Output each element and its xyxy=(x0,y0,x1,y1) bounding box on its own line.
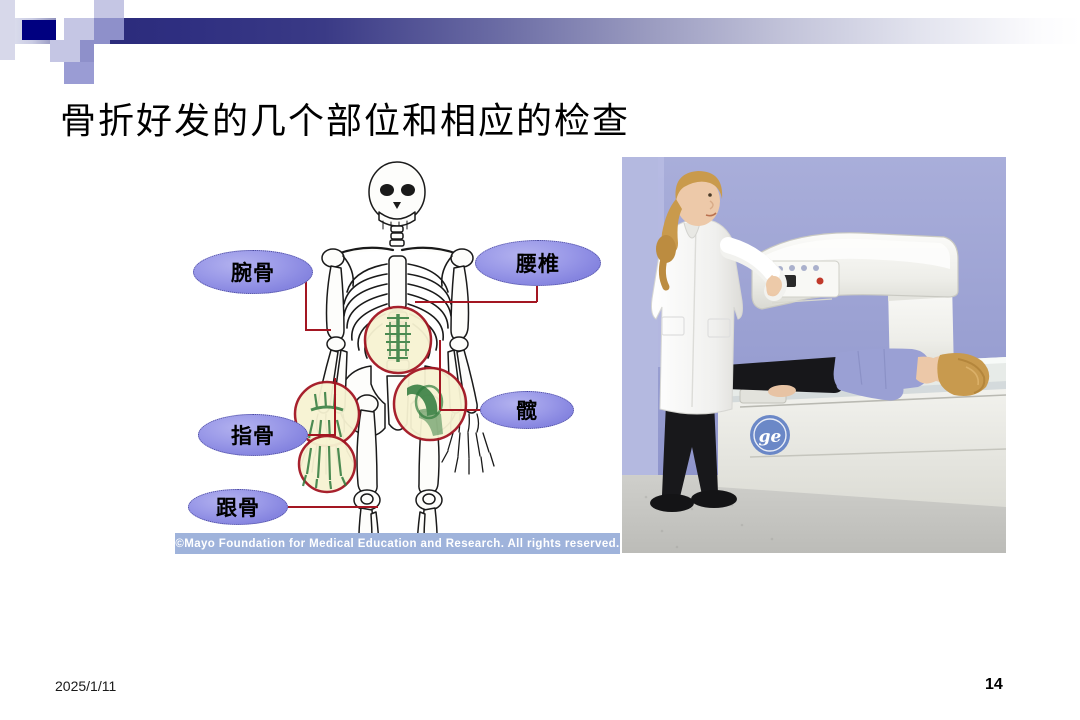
leader-line-phalanx-v xyxy=(334,378,336,435)
header-gradient-bar xyxy=(0,18,1080,44)
scanner-power-button xyxy=(817,278,824,285)
square-navy-solid xyxy=(22,20,56,40)
header-decoration xyxy=(0,0,1080,60)
leader-line-lumbar-h xyxy=(415,301,537,303)
page-title: 骨折好发的几个部位和相应的检查 xyxy=(60,92,630,144)
square-pale-left xyxy=(0,0,15,60)
dexa-scene-illustration: ge xyxy=(622,157,1006,553)
leader-line-phalanx-h xyxy=(306,434,336,436)
leader-line-lumbar-v xyxy=(536,286,538,302)
square-white-gap xyxy=(56,18,64,40)
dexa-scanner-photo: ge xyxy=(622,157,1006,553)
footer-date: 2025/1/11 xyxy=(55,678,116,694)
square-lilac-3 xyxy=(64,18,94,40)
ge-logo-text: ge xyxy=(759,427,782,447)
square-white-notch xyxy=(94,44,134,88)
callout-hip[interactable]: 髋 xyxy=(480,391,574,429)
footer-page-number: 14 xyxy=(985,676,1003,694)
leader-line-hip-v xyxy=(439,340,441,410)
square-lilac-5 xyxy=(50,40,80,62)
leader-line-hip-h xyxy=(440,409,482,411)
callout-lumbar[interactable]: 腰椎 xyxy=(475,240,601,286)
square-lilac-1 xyxy=(94,0,124,18)
callout-phalanx[interactable]: 指骨 xyxy=(198,414,308,456)
mayo-copyright-caption: ©Mayo Foundation for Medical Education a… xyxy=(175,533,620,554)
leader-line-wrist-h xyxy=(305,329,331,331)
leader-line-calcaneus-h xyxy=(286,506,378,508)
callout-calcaneus[interactable]: 跟骨 xyxy=(188,489,288,525)
callout-wrist[interactable]: 腕骨 xyxy=(193,250,313,294)
square-lilac-8 xyxy=(64,62,94,84)
square-lilac-4 xyxy=(94,18,124,40)
